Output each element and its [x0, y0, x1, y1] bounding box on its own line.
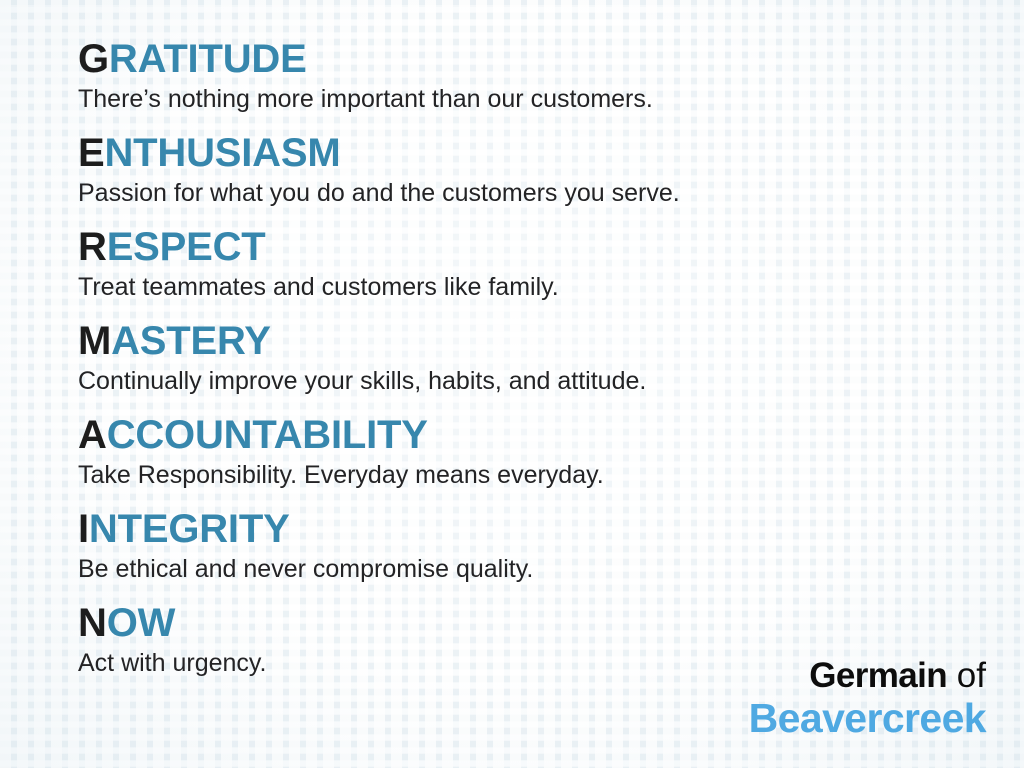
logo-connector-text: of: [947, 656, 986, 695]
value-heading-now: NOW: [78, 600, 1024, 646]
value-block-accountability: ACCOUNTABILITY Take Responsibility. Ever…: [78, 412, 1024, 492]
value-lead-letter: A: [78, 413, 107, 457]
value-description-integrity: Be ethical and never compromise quality.: [78, 552, 1024, 586]
value-lead-letter: G: [78, 37, 109, 81]
value-lead-letter: I: [78, 507, 89, 551]
logo-brand-text: Germain: [809, 656, 947, 695]
value-lead-letter: R: [78, 225, 107, 269]
value-rest-letters: RATITUDE: [109, 37, 307, 81]
value-description-respect: Treat teammates and customers like famil…: [78, 270, 1024, 304]
value-lead-letter: N: [78, 601, 107, 645]
value-block-integrity: INTEGRITY Be ethical and never compromis…: [78, 506, 1024, 586]
value-description-gratitude: There’s nothing more important than our …: [78, 82, 1024, 116]
value-block-enthusiasm: ENTHUSIASM Passion for what you do and t…: [78, 130, 1024, 210]
value-heading-accountability: ACCOUNTABILITY: [78, 412, 1024, 458]
value-heading-integrity: INTEGRITY: [78, 506, 1024, 552]
logo-line-germain-of: Germain of: [749, 656, 986, 696]
value-lead-letter: M: [78, 319, 111, 363]
value-block-mastery: MASTERY Continually improve your skills,…: [78, 318, 1024, 398]
value-block-gratitude: GRATITUDE There’s nothing more important…: [78, 36, 1024, 116]
values-list: GRATITUDE There’s nothing more important…: [0, 0, 1024, 768]
value-heading-enthusiasm: ENTHUSIASM: [78, 130, 1024, 176]
value-rest-letters: OW: [107, 601, 175, 645]
values-poster: GRATITUDE There’s nothing more important…: [0, 0, 1024, 768]
value-description-enthusiasm: Passion for what you do and the customer…: [78, 176, 1024, 210]
value-rest-letters: NTEGRITY: [89, 507, 290, 551]
value-rest-letters: CCOUNTABILITY: [107, 413, 428, 457]
value-heading-gratitude: GRATITUDE: [78, 36, 1024, 82]
value-description-mastery: Continually improve your skills, habits,…: [78, 364, 1024, 398]
dealership-logo: Germain of Beavercreek: [749, 656, 986, 740]
value-rest-letters: ESPECT: [107, 225, 266, 269]
value-block-respect: RESPECT Treat teammates and customers li…: [78, 224, 1024, 304]
value-lead-letter: E: [78, 131, 104, 175]
value-rest-letters: NTHUSIASM: [104, 131, 340, 175]
value-rest-letters: ASTERY: [111, 319, 271, 363]
value-description-accountability: Take Responsibility. Everyday means ever…: [78, 458, 1024, 492]
logo-location-text: Beavercreek: [749, 696, 986, 740]
value-heading-respect: RESPECT: [78, 224, 1024, 270]
value-heading-mastery: MASTERY: [78, 318, 1024, 364]
